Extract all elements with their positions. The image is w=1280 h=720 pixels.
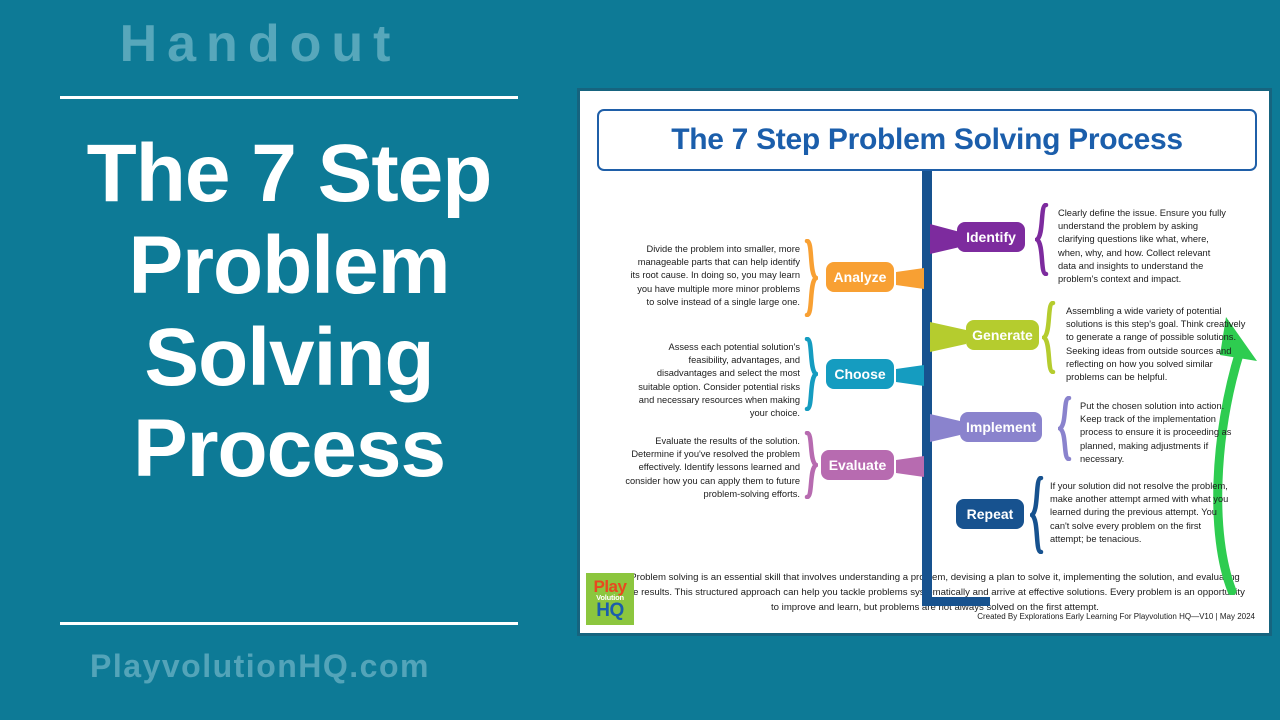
brace-implement	[1058, 396, 1072, 461]
desc-analyze: Divide the problem into smaller, more ma…	[628, 243, 800, 309]
page-title-line-4: Process	[10, 403, 568, 495]
node-analyze[interactable]: Analyze	[826, 262, 894, 292]
node-evaluate[interactable]: Evaluate	[821, 450, 894, 480]
node-implement[interactable]: Implement	[960, 412, 1042, 442]
brace-choose	[804, 337, 818, 411]
page-title-line-3: Solving	[10, 312, 568, 404]
poster-title: The 7 Step Problem Solving Process	[671, 123, 1183, 157]
poster-image: The 7 Step Problem Solving Process	[577, 88, 1272, 636]
brace-generate	[1042, 301, 1056, 374]
poster-title-box: The 7 Step Problem Solving Process	[597, 109, 1257, 171]
brace-identify	[1035, 203, 1049, 276]
desc-choose: Assess each potential solution's feasibi…	[628, 341, 800, 420]
node-evaluate-label: Evaluate	[829, 457, 887, 473]
screenshot-root: Handout The 7 Step Problem Solving Proce…	[0, 0, 1280, 720]
handout-badge: Handout	[0, 18, 520, 70]
brace-evaluate	[804, 431, 818, 499]
left-cover-panel: Handout The 7 Step Problem Solving Proce…	[0, 0, 575, 720]
node-repeat[interactable]: Repeat	[956, 499, 1024, 529]
node-implement-label: Implement	[966, 419, 1036, 435]
desc-identify: Clearly define the issue. Ensure you ful…	[1058, 207, 1228, 286]
node-generate[interactable]: Generate	[966, 320, 1039, 350]
divider-top	[60, 96, 518, 99]
desc-repeat: If your solution did not resolve the pro…	[1050, 480, 1230, 546]
page-title-line-1: The 7 Step	[10, 128, 568, 220]
desc-evaluate: Evaluate the results of the solution. De…	[618, 435, 800, 501]
brace-repeat	[1030, 476, 1044, 554]
divider-bottom	[60, 622, 518, 625]
node-repeat-label: Repeat	[967, 506, 1014, 522]
node-identify-label: Identify	[966, 229, 1016, 245]
node-choose-label: Choose	[834, 366, 885, 382]
page-title-line-2: Problem	[10, 220, 568, 312]
brace-analyze	[804, 239, 818, 317]
node-choose[interactable]: Choose	[826, 359, 894, 389]
node-identify[interactable]: Identify	[957, 222, 1025, 252]
desc-implement: Put the chosen solution into action. Kee…	[1080, 400, 1245, 466]
site-url-label: PlayvolutionHQ.com	[0, 648, 520, 685]
page-title: The 7 Step Problem Solving Process	[10, 128, 568, 495]
desc-generate: Assembling a wide variety of potential s…	[1066, 305, 1248, 384]
node-generate-label: Generate	[972, 327, 1033, 343]
node-analyze-label: Analyze	[834, 269, 887, 285]
